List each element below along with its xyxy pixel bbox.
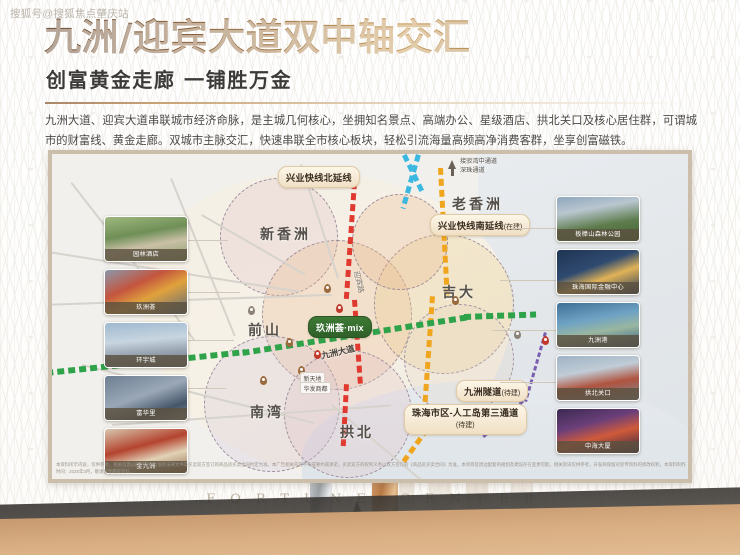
leader-line [510,228,556,229]
thumbnail[interactable]: 富华里 [104,375,188,421]
watermark: 搜狐号@搜狐焦点肇庆站 [10,6,129,21]
thumbnail[interactable]: 九洲港 [556,302,640,348]
project-marker[interactable]: 玖洲荟·mix [308,316,372,338]
thumbnail-caption: 拱北关口 [557,388,639,400]
callout-third-channel[interactable]: 珠海市区-人工岛第三通道(待建) [404,404,527,435]
district-label-xinxiangzhou: 新香洲 [260,224,311,244]
leader-line [500,382,556,383]
project-marker-label: 玖洲荟·mix [316,323,364,333]
thumbnail-caption: 园林酒店 [105,249,187,261]
poi-pin[interactable] [542,336,549,345]
thumbnail[interactable]: 玖洲荟 [104,269,188,315]
map-disclaimer: 本资料所示内容，仅供参考，相关信息以政府部门批准的法律文件及买卖双方签订的商品房… [56,462,686,476]
callout-label: 兴业快线南延线 [438,221,504,231]
header: 九洲/迎宾大道双中轴交汇 创富黄金走廊 一铺胜万金 九洲大道、迎宾大道串联城市经… [0,18,740,151]
page-subtitle: 创富黄金走廊 一铺胜万金 [46,64,740,93]
poi-pin[interactable] [514,330,521,339]
thumbnail[interactable]: 环宇城 [104,322,188,368]
district-label-laoxiangzhou: 老香洲 [452,194,503,214]
callout-label: 兴业快线北延线 [286,173,352,183]
leader-line [188,292,240,293]
poi-pin[interactable] [452,296,459,305]
thumbnail-column-left: 园林酒店 玖洲荟 环宇城 富华里 金九洲 [104,216,188,481]
body-paragraph: 九洲大道、迎宾大道串联城市经济命脉，是主城几何核心，坐拥知名景点、高端办公、星级… [45,112,697,151]
poi-pin[interactable] [286,338,293,347]
poi-pin[interactable] [314,350,321,359]
thumbnail-caption: 珠海国际金融中心 [557,282,639,294]
north-connector-arrow-icon [448,160,456,169]
callout-note: (待建) [502,390,521,397]
thumbnail-caption: 中海大厦 [557,441,639,453]
poi-pin[interactable] [260,376,267,385]
thumbnail[interactable]: 板樟山森林公园 [556,196,640,242]
leader-line [188,340,234,341]
note-lianzhong-channel: 接驳湾中通道 [460,158,497,166]
callout-label: 珠海市区-人工岛第三通道 [412,408,519,418]
callout-note: (待建) [456,422,475,429]
district-label-nanwan: 南湾 [250,402,284,422]
district-label-gongbei: 拱北 [340,422,374,442]
callout-xingye-south[interactable]: 兴业快线南延线(在建) [430,214,530,236]
district-label-qianshan: 前山 [248,320,282,340]
thumbnail[interactable]: 中海大厦 [556,408,640,454]
poi-pin[interactable] [324,284,331,293]
map-tag-huafa: 华发商都 [300,382,331,394]
thumbnail-caption: 九洲港 [557,335,639,347]
thumbnail-caption: 环宇城 [105,355,187,367]
thumbnail-column-right: 板樟山森林公园 珠海国际金融中心 九洲港 拱北关口 中海大厦 [556,196,640,461]
page-title: 九洲/迎宾大道双中轴交汇 [44,18,740,57]
radius-circle [352,194,448,290]
poi-pin[interactable] [336,304,343,313]
leader-line [492,330,556,331]
leader-line [188,240,228,241]
leader-line [188,388,226,389]
callout-label: 九洲隧道 [464,387,502,397]
note-shenzhu-channel: 深珠通道 [460,167,485,175]
thumbnail-caption: 板樟山森林公园 [557,229,639,241]
district-label-jida: 吉大 [442,282,476,302]
thumbnail[interactable]: 园林酒店 [104,216,188,262]
callout-note: (在建) [504,224,523,231]
leader-line [500,280,556,281]
thumbnail[interactable]: 珠海国际金融中心 [556,249,640,295]
thumbnail[interactable]: 拱北关口 [556,355,640,401]
callout-jiuzhou-tunnel[interactable]: 九洲隧道(待建) [456,380,528,402]
thumbnail-caption: 富华里 [105,408,187,420]
poi-pin[interactable] [248,306,255,315]
callout-xingye-north[interactable]: 兴业快线北延线 [278,166,360,188]
thumbnail-caption: 玖洲荟 [105,302,187,314]
header-divider [45,102,693,104]
